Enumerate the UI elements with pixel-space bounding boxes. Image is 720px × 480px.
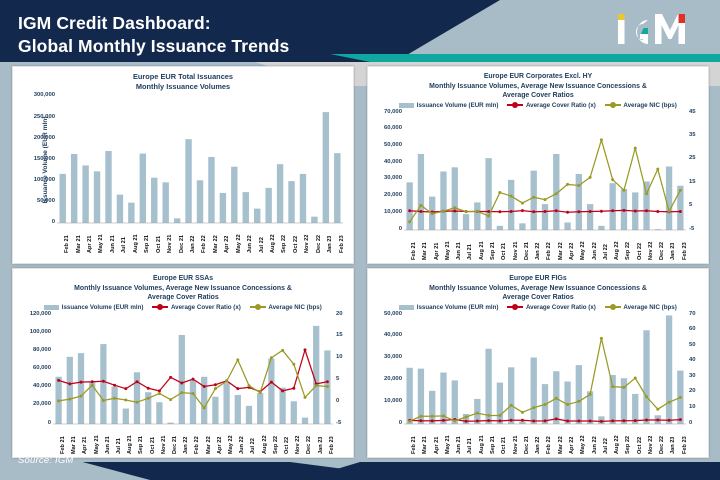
- x-axis-tick-label: Aug 22: [271, 235, 277, 254]
- x-axis-tick-label: Mar 21: [72, 436, 78, 454]
- x-axis-tick-label: Jan 23: [319, 436, 325, 453]
- x-axis-tick-label: Apr 21: [88, 236, 94, 253]
- x-axis-tick-label: Apr 22: [225, 236, 231, 253]
- legend-item-cover-ratio[interactable]: Average Cover Ratio (x): [507, 102, 595, 109]
- x-axis-tick-label: Oct 21: [151, 436, 157, 453]
- x-axis-tick-label: Mar 21: [423, 436, 429, 454]
- x-axis-tick-label: Apr 21: [83, 436, 89, 453]
- x-axis-tick-label: Oct 22: [638, 242, 644, 259]
- x-axis-tick-label: Jan 22: [536, 242, 542, 259]
- x-axis-tick-label: Oct 22: [294, 236, 300, 253]
- x-axis-tick-label: Feb 21: [412, 436, 418, 454]
- y-axis-title: Issuance Volume (EUR mln): [42, 116, 49, 203]
- x-axis-labels: Feb 21Mar 21Apr 21May 21Jun 21Jul 21Aug …: [13, 94, 351, 256]
- x-axis-tick-label: Dec 21: [525, 242, 531, 260]
- legend-swatch-volume-icon: [399, 103, 414, 108]
- x-axis-tick-label: Jun 21: [457, 242, 463, 260]
- legend-item-nic[interactable]: Average NIC (bps): [605, 304, 677, 311]
- logo-letter-m: [655, 14, 685, 44]
- x-axis-tick-label: Jul 22: [260, 238, 266, 254]
- legend-label-volume: Issuance Volume (EUR mln): [62, 304, 144, 311]
- chart-legend-eur-figs: Issuance Volume (EUR mln) Average Cover …: [368, 304, 708, 311]
- x-axis-tick-label: Oct 21: [502, 436, 508, 453]
- x-axis-tick-label: Dec 22: [307, 436, 313, 454]
- chart-title-eur-figs: Europe EUR FIGsMonthly Issuance Volumes,…: [372, 274, 704, 303]
- x-axis-tick-label: Sep 21: [145, 235, 151, 253]
- x-axis-tick-label: Jun 21: [457, 436, 463, 454]
- x-axis-tick-label: May 22: [581, 435, 587, 454]
- x-axis-tick-label: Apr 21: [435, 436, 441, 453]
- x-axis-tick-label: Aug 21: [128, 435, 134, 454]
- plot-area-eur-ssas: 020,00040,00060,00080,000100,000120,000-…: [13, 313, 351, 457]
- legend-item-volume[interactable]: Issuance Volume (EUR mln): [44, 304, 143, 311]
- x-axis-tick-label: Feb 21: [412, 242, 418, 260]
- x-axis-tick-label: Feb 22: [547, 242, 553, 260]
- x-axis-tick-label: Sep 22: [274, 436, 280, 454]
- x-axis-tick-label: Nov 21: [514, 241, 520, 259]
- x-axis-labels: Feb 21Mar 21Apr 21May 21Jun 21Jul 21Aug …: [368, 111, 706, 263]
- x-axis-tick-label: Sep 21: [139, 436, 145, 454]
- x-axis-labels: Feb 21Mar 21Apr 21May 21Jun 21Jul 21Aug …: [368, 313, 706, 457]
- legend-item-nic[interactable]: Average NIC (bps): [605, 102, 677, 109]
- x-axis-tick-label: Jun 21: [111, 236, 117, 254]
- legend-label-volume: Issuance Volume (EUR mln): [417, 304, 499, 311]
- x-axis-tick-label: Jan 22: [536, 436, 542, 453]
- x-axis-tick-label: Dec 22: [660, 436, 666, 454]
- x-axis-tick-label: Mar 22: [559, 436, 565, 454]
- legend-label-cover-ratio: Average Cover Ratio (x): [171, 304, 241, 311]
- x-axis-tick-label: Aug 22: [263, 435, 269, 454]
- x-axis-tick-label: Feb 22: [195, 436, 201, 454]
- x-axis-tick-label: Jan 23: [328, 236, 334, 253]
- x-axis-tick-label: Jul 21: [117, 438, 123, 454]
- x-axis-tick-label: Jan 22: [191, 236, 197, 253]
- x-axis-tick-label: Nov 21: [514, 435, 520, 453]
- x-axis-tick-label: Feb 23: [340, 236, 346, 254]
- x-axis-tick-label: Sep 22: [282, 235, 288, 253]
- chart-title-eur-ssas: Europe EUR SSAsMonthly Issuance Volumes,…: [17, 274, 349, 303]
- x-axis-tick-label: Oct 22: [285, 436, 291, 453]
- x-axis-tick-label: Sep 22: [626, 436, 632, 454]
- x-axis-tick-label: May 21: [446, 435, 452, 454]
- legend-swatch-cover-ratio-icon: [152, 306, 168, 308]
- x-axis-tick-label: Apr 22: [570, 242, 576, 259]
- x-axis-tick-label: May 22: [229, 435, 235, 454]
- x-axis-tick-label: May 22: [581, 241, 587, 260]
- legend-label-nic: Average NIC (bps): [623, 102, 676, 109]
- legend-swatch-nic-icon: [605, 104, 621, 106]
- x-axis-tick-label: May 21: [95, 435, 101, 454]
- x-axis-tick-label: Feb 21: [61, 436, 67, 454]
- x-axis-tick-label: Aug 21: [480, 435, 486, 454]
- logo-letter-i: [618, 14, 625, 44]
- x-axis-tick-label: Feb 23: [683, 436, 689, 454]
- legend-item-volume[interactable]: Issuance Volume (EUR mln): [399, 304, 498, 311]
- x-axis-tick-label: Mar 22: [207, 436, 213, 454]
- x-axis-tick-label: Dec 21: [180, 235, 186, 253]
- legend-item-nic[interactable]: Average NIC (bps): [250, 304, 322, 311]
- plot-area-eur-figs: 010,00020,00030,00040,00050,000010203040…: [368, 313, 706, 457]
- legend-label-volume: Issuance Volume (EUR mln): [417, 102, 499, 109]
- x-axis-tick-label: Apr 22: [570, 436, 576, 453]
- chart-legend-eur-ssas: Issuance Volume (EUR mln) Average Cover …: [13, 304, 353, 311]
- legend-item-cover-ratio[interactable]: Average Cover Ratio (x): [507, 304, 595, 311]
- x-axis-tick-label: Feb 22: [202, 236, 208, 254]
- x-axis-tick-label: May 21: [99, 235, 105, 254]
- plot-area-eur-corporates: 010,00020,00030,00040,00050,00060,00070,…: [368, 111, 706, 263]
- legend-swatch-volume-icon: [44, 305, 59, 310]
- x-axis-tick-label: Dec 22: [660, 242, 666, 260]
- x-axis-tick-label: Jan 23: [671, 436, 677, 453]
- x-axis-tick-label: May 22: [237, 235, 243, 254]
- chart-panel-eur-figs[interactable]: Europe EUR FIGsMonthly Issuance Volumes,…: [367, 268, 709, 458]
- legend-swatch-nic-icon: [605, 306, 621, 308]
- x-axis-tick-label: Jun 22: [593, 436, 599, 454]
- x-axis-tick-label: Aug 21: [134, 235, 140, 254]
- chart-panel-eur-total[interactable]: Europe EUR Total IssuancesMonthly Issuan…: [12, 66, 354, 264]
- x-axis-tick-label: Jan 22: [184, 436, 190, 453]
- x-axis-tick-label: Nov 22: [649, 241, 655, 259]
- chart-panel-eur-ssas[interactable]: Europe EUR SSAsMonthly Issuance Volumes,…: [12, 268, 354, 458]
- x-axis-tick-label: Oct 21: [502, 242, 508, 259]
- chart-panel-eur-corporates[interactable]: Europe EUR Corporates Excl. HYMonthly Is…: [367, 66, 709, 264]
- page-title: IGM Credit Dashboard: Global Monthly Iss…: [18, 12, 289, 58]
- x-axis-tick-label: Jul 22: [251, 438, 257, 454]
- x-axis-tick-label: Sep 21: [491, 242, 497, 260]
- plot-area-eur-total: 050,000100,000150,000200,000250,000300,0…: [13, 94, 351, 256]
- x-axis-tick-label: Nov 22: [305, 235, 311, 253]
- x-axis-tick-label: Nov 22: [649, 435, 655, 453]
- x-axis-tick-label: Jul 21: [122, 238, 128, 254]
- x-axis-tick-label: Feb 23: [330, 436, 336, 454]
- chart-title-eur-total: Europe EUR Total IssuancesMonthly Issuan…: [17, 72, 349, 92]
- x-axis-tick-label: Jul 22: [604, 244, 610, 260]
- x-axis-tick-label: Sep 21: [491, 436, 497, 454]
- x-axis-tick-label: Aug 22: [615, 435, 621, 454]
- chart-legend-eur-corporates: Issuance Volume (EUR mln) Average Cover …: [368, 102, 708, 109]
- x-axis-tick-label: Mar 22: [559, 242, 565, 260]
- x-axis-tick-label: Feb 22: [547, 436, 553, 454]
- chart-title-eur-corporates: Europe EUR Corporates Excl. HYMonthly Is…: [372, 72, 704, 101]
- x-axis-tick-label: Mar 21: [423, 242, 429, 260]
- x-axis-tick-label: Apr 21: [435, 242, 441, 259]
- legend-label-cover-ratio: Average Cover Ratio (x): [526, 304, 596, 311]
- x-axis-tick-label: Nov 21: [168, 235, 174, 253]
- legend-label-nic: Average NIC (bps): [268, 304, 321, 311]
- x-axis-tick-label: Aug 22: [615, 241, 621, 260]
- x-axis-tick-label: May 21: [446, 241, 452, 260]
- x-axis-tick-label: Oct 21: [157, 236, 163, 253]
- legend-swatch-volume-icon: [399, 305, 414, 310]
- x-axis-tick-label: Dec 22: [317, 235, 323, 253]
- legend-swatch-nic-icon: [250, 306, 266, 308]
- x-axis-tick-label: Dec 21: [173, 436, 179, 454]
- x-axis-tick-label: Nov 21: [162, 435, 168, 453]
- x-axis-tick-label: Dec 21: [525, 436, 531, 454]
- legend-swatch-cover-ratio-icon: [507, 104, 523, 106]
- x-axis-tick-label: Feb 21: [65, 236, 71, 254]
- x-axis-labels: Feb 21Mar 21Apr 21May 21Jun 21Jul 21Aug …: [13, 313, 351, 457]
- legend-item-cover-ratio[interactable]: Average Cover Ratio (x): [152, 304, 240, 311]
- legend-label-cover-ratio: Average Cover Ratio (x): [526, 102, 596, 109]
- x-axis-tick-label: Jun 22: [248, 236, 254, 254]
- x-axis-tick-label: Apr 22: [218, 436, 224, 453]
- x-axis-tick-label: Aug 21: [480, 241, 486, 260]
- legend-label-nic: Average NIC (bps): [623, 304, 676, 311]
- x-axis-tick-label: Jul 21: [468, 438, 474, 454]
- legend-item-volume[interactable]: Issuance Volume (EUR mln): [399, 102, 498, 109]
- x-axis-tick-label: Jun 21: [106, 436, 112, 454]
- x-axis-tick-label: Jun 22: [240, 436, 246, 454]
- igm-logo: [614, 8, 706, 52]
- x-axis-tick-label: Jun 22: [593, 242, 599, 260]
- logo-letter-g: [636, 20, 648, 44]
- x-axis-tick-label: Oct 22: [638, 436, 644, 453]
- x-axis-tick-label: Mar 22: [214, 236, 220, 254]
- x-axis-tick-label: Feb 23: [683, 242, 689, 260]
- x-axis-tick-label: Sep 22: [626, 242, 632, 260]
- source-caption: Source: IGM: [18, 455, 74, 466]
- x-axis-tick-label: Mar 21: [77, 236, 83, 254]
- x-axis-tick-label: Nov 22: [296, 435, 302, 453]
- x-axis-tick-label: Jul 21: [468, 244, 474, 260]
- legend-swatch-cover-ratio-icon: [507, 306, 523, 308]
- x-axis-tick-label: Jul 22: [604, 438, 610, 454]
- x-axis-tick-label: Jan 23: [671, 242, 677, 259]
